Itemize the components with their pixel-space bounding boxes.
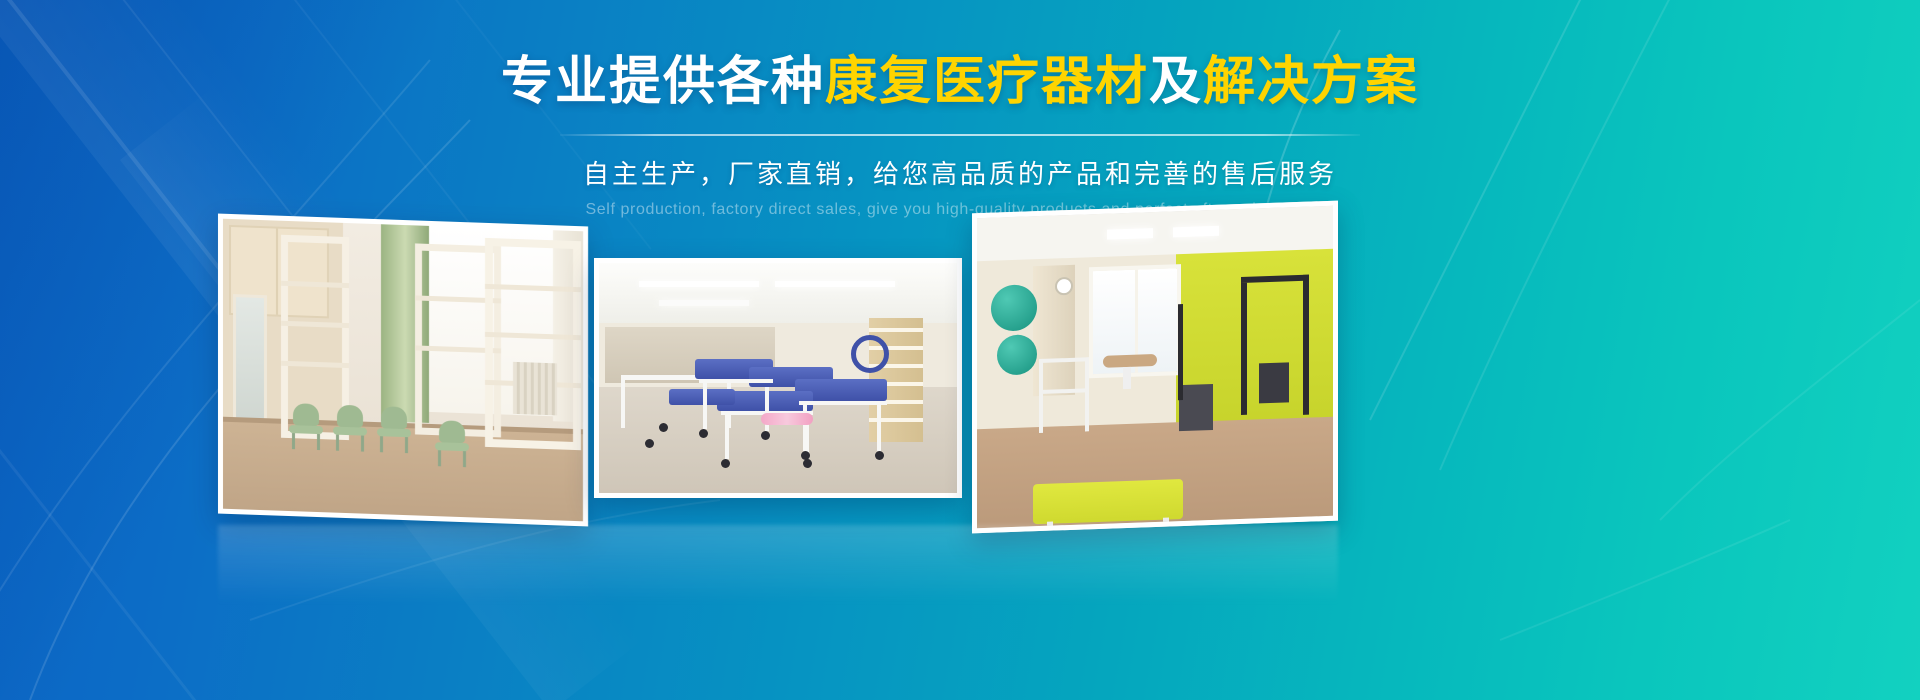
gallery-photo-1[interactable] (218, 214, 588, 527)
subtitle-chinese: 自主生产，厂家直销，给您高品质的产品和完善的售后服务 (0, 154, 1920, 191)
title-divider (560, 134, 1360, 136)
title-segment-4: 解决方案 (1203, 52, 1419, 112)
treatment-table (1033, 479, 1183, 524)
gallery-photo-2[interactable] (594, 258, 962, 498)
title-segment-1: 专业提供各种 (501, 52, 825, 112)
title-segment-2: 康复医疗器材 (825, 52, 1149, 112)
title-segment-3: 及 (1149, 52, 1203, 112)
photo-gallery (0, 215, 1920, 545)
gallery-reflection (218, 525, 1338, 605)
headline-block: 专业提供各种康复医疗器材及解决方案 自主生产，厂家直销，给您高品质的产品和完善的… (0, 56, 1920, 219)
promo-banner: 专业提供各种康复医疗器材及解决方案 自主生产，厂家直销，给您高品质的产品和完善的… (0, 0, 1920, 700)
page-title: 专业提供各种康复医疗器材及解决方案 (0, 56, 1920, 108)
gallery-photo-3[interactable] (972, 201, 1338, 534)
